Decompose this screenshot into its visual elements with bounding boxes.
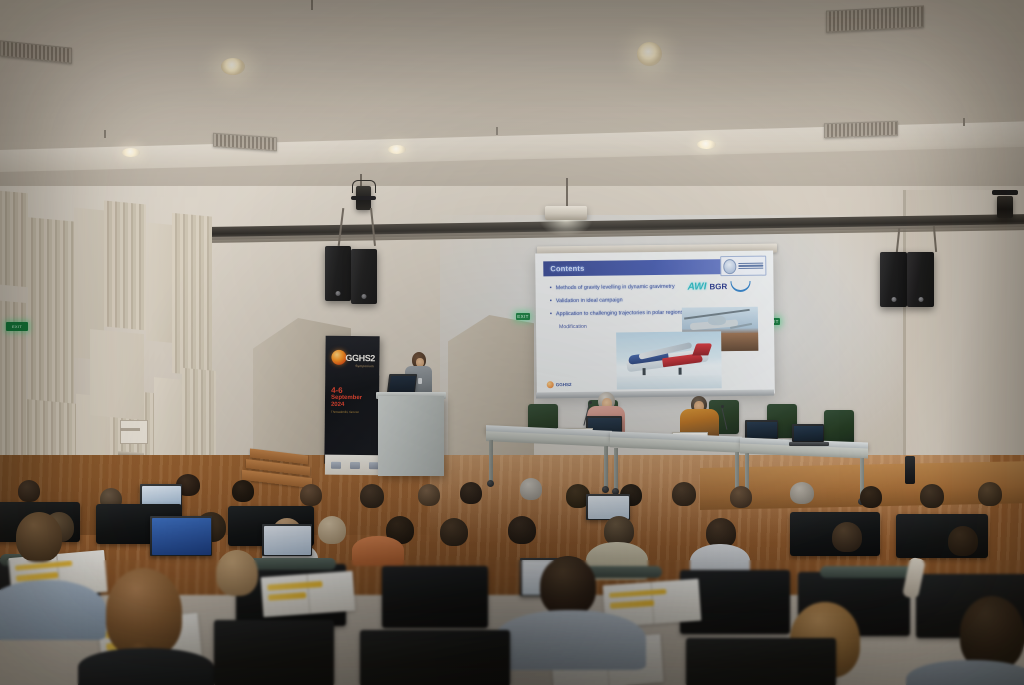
attendee-laptop [150, 516, 212, 556]
stage-light-arm [992, 190, 1018, 195]
slide-title-bar: Contents [543, 259, 745, 276]
projector-pole [566, 178, 568, 206]
exit-sign-label: EXIT [12, 324, 22, 329]
stage-light-icon [997, 196, 1013, 218]
audience-head [216, 550, 258, 596]
audience-shoulders [906, 660, 1024, 685]
audience-head [520, 478, 542, 500]
banner-place-label: Thessaloniki, Greece [331, 410, 359, 414]
audience-head [440, 518, 468, 546]
seat-armrest [820, 566, 916, 578]
footer-brand-label: GGHS2 [556, 382, 572, 387]
seat-back [382, 566, 488, 628]
university-crest-logo [720, 256, 766, 277]
audience-head [540, 556, 596, 616]
audience-head [978, 482, 1002, 506]
presenter-laptop [387, 374, 417, 394]
audience-head [318, 516, 346, 544]
air-vent-icon [824, 121, 898, 139]
panel-chair [824, 410, 854, 444]
ceiling-hook [496, 127, 498, 135]
audience-shoulders [0, 580, 106, 640]
sub-bullet-text: Modification [559, 322, 700, 331]
ceiling-spotlight [697, 140, 716, 149]
banner-globe-icon [331, 350, 346, 365]
pa-speaker [880, 252, 907, 307]
panelist-laptop [745, 420, 778, 439]
seat-back [686, 638, 836, 685]
ceiling-spotlight [637, 42, 662, 66]
exit-sign-label: EXIT [517, 314, 529, 319]
wall-panel-slot [120, 428, 140, 431]
ceiling-projector [545, 206, 587, 220]
audience-head [508, 516, 536, 544]
ceiling-hook [311, 0, 313, 10]
globe-icon [547, 381, 554, 388]
sponsor-logo [331, 461, 341, 468]
bullet-icon: ▪ [550, 285, 552, 292]
banner-month-label: September2024 [331, 395, 362, 409]
awi-logo: AWI [687, 281, 706, 292]
lectern [378, 396, 444, 476]
banner-brand-sub-label: Symposium [355, 363, 374, 370]
slide-bullet-list: ▪ Methods of gravity levelling in dynami… [550, 283, 701, 331]
bgr-logo: BGR [709, 282, 727, 291]
audience-head [16, 512, 62, 562]
list-item: ▪ Methods of gravity levelling in dynami… [550, 283, 700, 292]
audience-shoulders [78, 648, 214, 685]
microphone-head-icon [589, 401, 592, 404]
wall-control-panel [120, 420, 148, 444]
audience-head [730, 486, 752, 508]
audience-head [920, 484, 944, 508]
audience-shoulders [352, 536, 404, 566]
pa-speaker [351, 249, 377, 304]
seat-back [214, 620, 334, 685]
presenter-name-badge [418, 378, 422, 384]
programme-booklet [261, 571, 356, 617]
crest-icon [723, 259, 736, 274]
audience-head [418, 484, 440, 506]
audience-head [948, 526, 978, 556]
stage-light-arm [351, 196, 376, 200]
pa-speaker [907, 252, 934, 307]
bullet-text: Application to challenging trajectories … [556, 310, 683, 319]
audience-head-foreground [960, 596, 1024, 670]
bullet-icon: ▪ [550, 298, 552, 305]
list-item: ▪ Application to challenging trajectorie… [550, 309, 700, 318]
lecture-hall-photo: EXIT EXIT EXIT Contents [0, 0, 1024, 685]
pa-speaker [325, 246, 351, 301]
audience-shoulders [494, 610, 646, 670]
banner-dates-label: 4-6 [331, 386, 343, 395]
bullet-icon: ▪ [550, 311, 552, 318]
audience-head [790, 482, 814, 504]
ceiling-spotlight [221, 58, 245, 75]
conference-rollup-banner: GGHS2 Symposium 4-6 September2024 Thessa… [324, 336, 379, 465]
audience-head [18, 480, 40, 502]
audience-head [460, 482, 482, 504]
polar-research-aircraft-photo [616, 331, 722, 389]
bullet-text: Validation in ideal campaign [556, 297, 623, 305]
audience-head [300, 484, 322, 506]
banner-brand-label: GGHS2 [345, 353, 375, 363]
projector-light-beam [540, 220, 592, 236]
attendee-laptop [262, 524, 312, 556]
spare-laptop [792, 424, 824, 442]
logo-wordmark-lines [738, 262, 763, 269]
partner-logos: AWI BGR [687, 281, 750, 293]
list-item: ▪ Validation in ideal campaign [550, 296, 700, 305]
ceiling-spotlight [388, 145, 406, 154]
audience-head [672, 482, 696, 506]
audience-head [360, 484, 384, 508]
exit-sign: EXIT [516, 313, 530, 320]
ceiling-hook [963, 118, 965, 126]
bgr-swoosh-icon [730, 281, 750, 292]
projection-screen: Contents ▪ Methods of gravity levelling … [535, 251, 775, 397]
audience-head [232, 480, 254, 502]
microphone-head-icon [721, 405, 724, 408]
bullet-text: Methods of gravity levelling in dynamic … [556, 284, 675, 292]
seat-back [360, 630, 510, 685]
audience-seating [0, 470, 1024, 685]
ceiling-hook [104, 130, 106, 138]
slide-heading: Contents [543, 264, 584, 274]
audience-head [832, 522, 862, 552]
sponsor-logo [350, 461, 360, 468]
ceiling-spotlight [122, 148, 140, 157]
exit-sign: EXIT [6, 322, 28, 331]
slide-footer-logo: GGHS2 [547, 381, 572, 388]
audience-head [860, 486, 882, 508]
